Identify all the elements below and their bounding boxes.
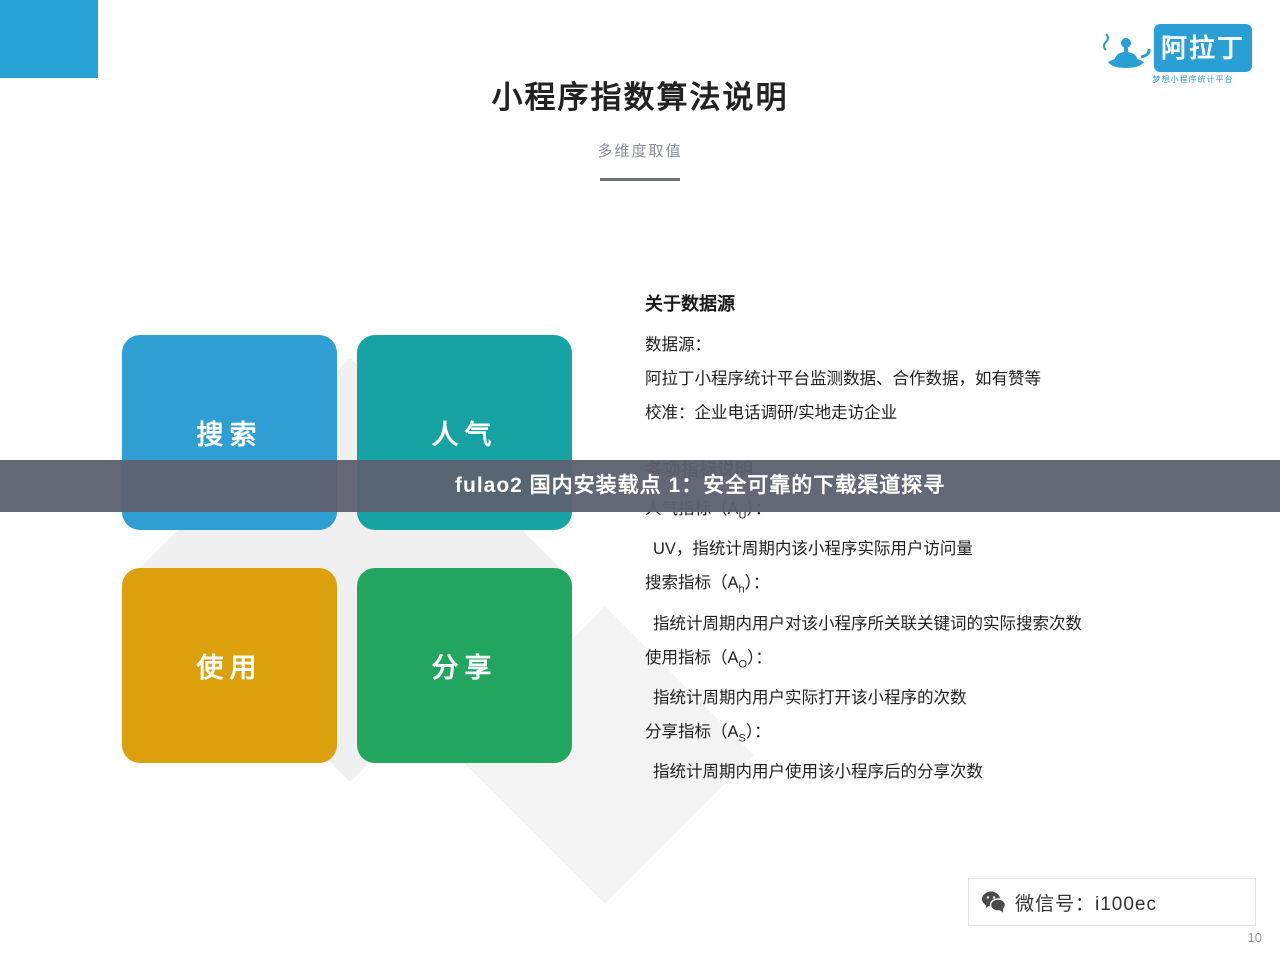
card-share[interactable]: 分享 (357, 568, 572, 763)
logo-brand-text: 阿拉丁 (1160, 28, 1246, 68)
indicator-1-tail: ）： (745, 574, 770, 592)
indicator-label-search: 搜索指标（Ah）： (645, 566, 1245, 606)
indicator-3-tail: ）： (746, 723, 771, 741)
wechat-text: 微信号：i100ec (1015, 889, 1157, 916)
indicator-3-label: 分享指标（A (645, 723, 739, 741)
wechat-badge: 微信号：i100ec (968, 878, 1256, 926)
indicator-label-usage: 使用指标（AO）： (645, 641, 1245, 681)
corner-accent-block (0, 0, 98, 78)
datasource-line-1: 数据源： (645, 328, 1245, 362)
card-usage[interactable]: 使用 (122, 568, 337, 763)
content-column: 关于数据源 数据源： 阿拉丁小程序统计平台监测数据、合作数据，如有赞等 校准：企… (645, 290, 1245, 789)
subtitle-underline (600, 178, 680, 181)
logo-tagline: 梦想小程序统计平台 (1138, 74, 1248, 85)
indicator-desc-search: 指统计周期内用户对该小程序所关联关键词的实际搜索次数 (645, 607, 1245, 641)
page-number: 10 (1248, 930, 1262, 945)
page-subtitle: 多维度取值 (0, 140, 1280, 161)
indicator-label-share: 分享指标（AS）： (645, 715, 1245, 755)
card-search-label: 搜索 (197, 413, 263, 452)
aladdin-lamp-icon (1100, 26, 1152, 72)
dimension-card-grid: 搜索 人气 使用 分享 (122, 335, 572, 780)
wechat-icon (981, 889, 1007, 915)
datasource-line-2: 阿拉丁小程序统计平台监测数据、合作数据，如有赞等 (645, 362, 1245, 396)
datasource-line-3: 校准：企业电话调研/实地走访企业 (645, 396, 1245, 430)
indicator-desc-popularity: UV，指统计周期内该小程序实际用户访问量 (645, 532, 1245, 566)
slide-root: 阿拉丁 梦想小程序统计平台 小程序指数算法说明 多维度取值 搜索 人气 使用 分… (0, 0, 1280, 959)
indicator-2-sub: O (739, 658, 748, 670)
card-popularity-label: 人气 (432, 413, 498, 452)
overlay-banner-text[interactable]: fulao2 国内安装载点 1：安全可靠的下载渠道探寻 (455, 460, 945, 512)
card-share-label: 分享 (432, 646, 498, 685)
card-usage-label: 使用 (197, 646, 263, 685)
indicator-3-sub: S (739, 732, 746, 744)
indicator-2-label: 使用指标（A (645, 649, 739, 667)
brand-logo: 阿拉丁 梦想小程序统计平台 (1064, 18, 1252, 90)
indicator-desc-usage: 指统计周期内用户实际打开该小程序的次数 (645, 681, 1245, 715)
indicator-desc-share: 指统计周期内用户使用该小程序后的分享次数 (645, 755, 1245, 789)
datasource-heading: 关于数据源 (645, 290, 1245, 316)
indicator-1-label: 搜索指标（A (645, 574, 739, 592)
indicator-2-tail: ）： (747, 649, 772, 667)
